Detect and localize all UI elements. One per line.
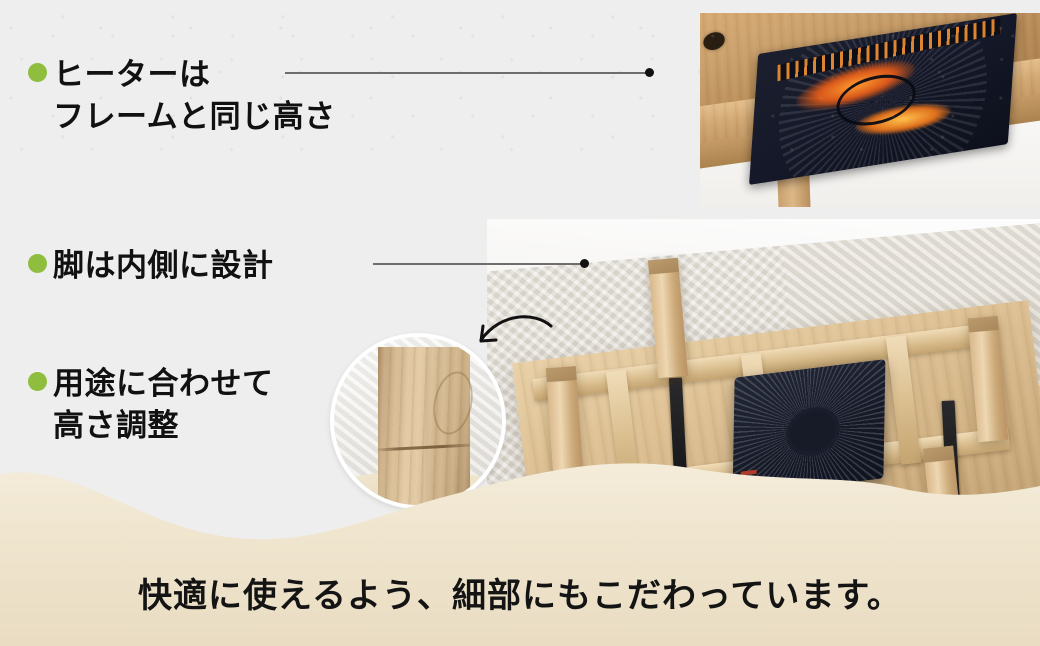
leader-line-heater [285,72,648,74]
feature-label: 用途に合わせて 高さ調整 [53,363,274,446]
leg-end-cap [968,316,999,333]
feature-item-heater-height: ヒーターは フレームと同じ高さ [28,54,336,137]
feature-label: ヒーターは フレームと同じ高さ [53,54,336,137]
leader-dot-legs [580,259,589,268]
leader-line-legs [373,263,584,265]
promo-graphic: ヒーターは フレームと同じ高さ 脚は内側に設計 用途に合わせて 高さ調整 快適に… [0,0,1040,646]
leg-end-cap [546,366,577,382]
bullet-dot-icon [28,63,47,82]
leg-end-cap [648,258,679,275]
feature-item-height-adjust: 用途に合わせて 高さ調整 [28,363,274,446]
bottom-caption: 快適に使えるよう、細部にもこだわっています。 [0,568,1040,617]
leader-dot-heater [645,68,654,77]
arrow-curve [481,317,551,340]
curved-arrow-to-leg-closeup [455,300,575,360]
feature-item-inset-legs: 脚は内側に設計 [28,245,274,287]
bullet-dot-icon [28,254,47,273]
feature-label: 脚は内側に設計 [53,245,274,287]
sand-wave-shape [0,463,1040,646]
bullet-dot-icon [28,372,47,391]
